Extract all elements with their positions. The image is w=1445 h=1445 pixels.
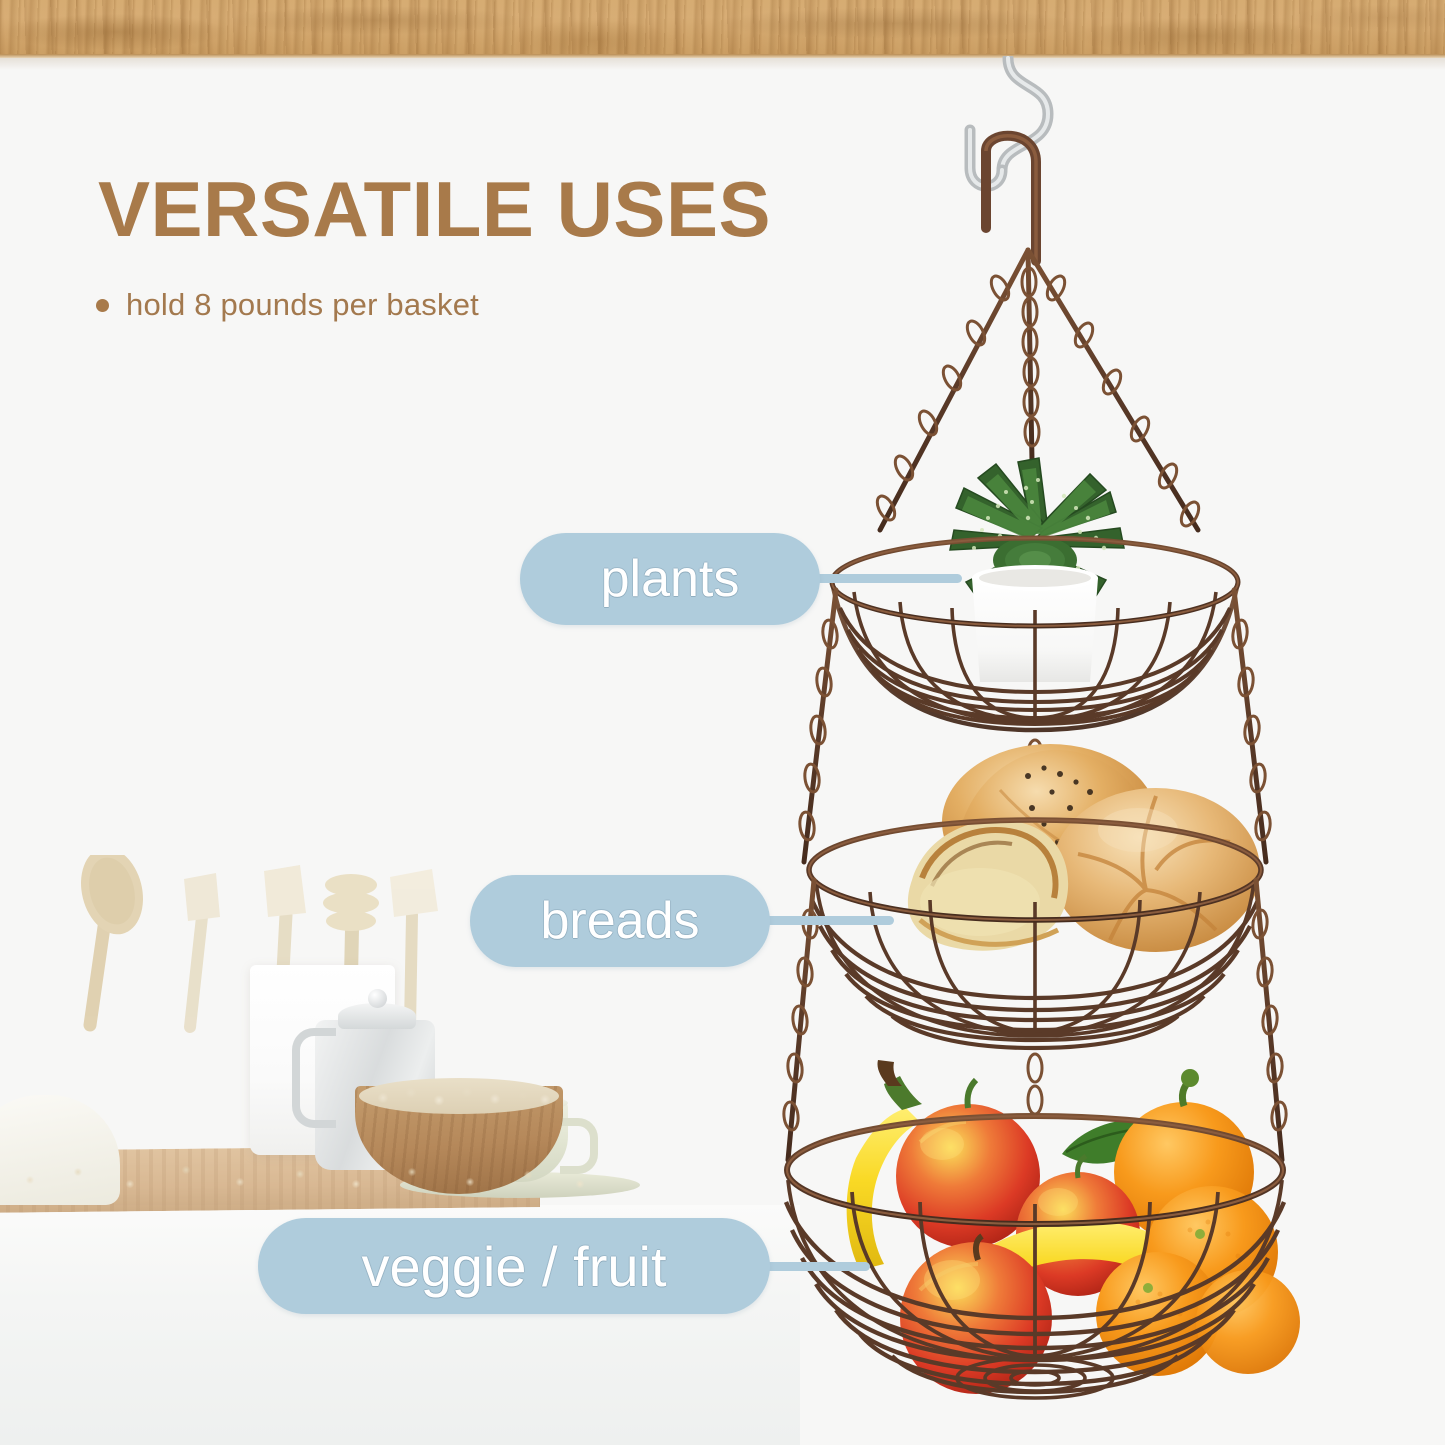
callout-pill-plants[interactable]: plants: [520, 533, 820, 625]
product-marketing-image: VERSATILE USES hold 8 pounds per basket: [0, 0, 1445, 1445]
plain-kaiser-roll: [1052, 788, 1260, 952]
bullet-dot-icon: [96, 299, 109, 312]
basket-tier-3: [786, 1060, 1300, 1398]
scattered-pistachios: [0, 1150, 620, 1210]
callout-pill-breads[interactable]: breads: [470, 875, 770, 967]
page-title: VERSATILE USES: [98, 170, 771, 248]
shelf-shadow: [0, 58, 1445, 70]
feature-bullet-label: hold 8 pounds per basket: [126, 287, 479, 323]
leader-line-breads: [762, 916, 894, 925]
leader-line-plants: [812, 574, 962, 583]
callout-pill-veggie-fruit[interactable]: veggie / fruit: [258, 1218, 770, 1314]
leader-line-veggie-fruit: [762, 1262, 870, 1271]
feature-bullet: hold 8 pounds per basket: [96, 287, 479, 323]
shelf-wood-grain: [0, 0, 1445, 58]
basket-tier-2: [809, 744, 1261, 1048]
wooden-shelf: [0, 0, 1445, 58]
